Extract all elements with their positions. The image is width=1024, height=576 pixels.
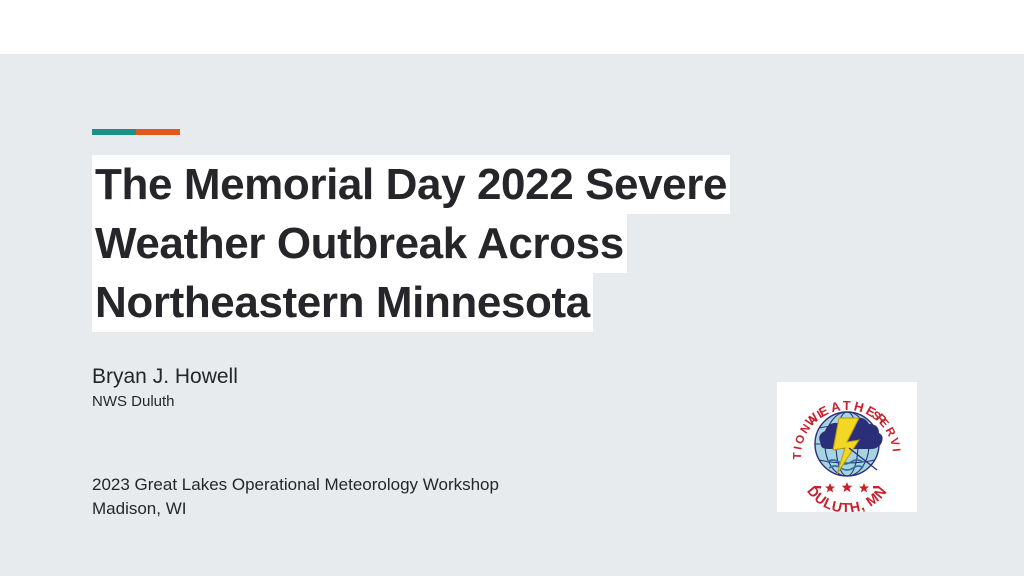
author-affiliation: NWS Duluth	[92, 391, 238, 412]
accent-bar-teal-segment	[92, 129, 136, 135]
presentation-slide: The Memorial Day 2022 Severe Weather Out…	[0, 0, 1024, 576]
seal-stars	[815, 482, 879, 492]
event-location: Madison, WI	[92, 497, 499, 521]
nws-duluth-seal-icon: WEATHER NATIONAL SERVICE DULUTH, MN	[777, 382, 917, 512]
event-name: 2023 Great Lakes Operational Meteorology…	[92, 473, 499, 497]
title-line-2: Weather Outbreak Across	[92, 214, 627, 273]
accent-bar-orange-segment	[136, 129, 180, 135]
logo-plate: WEATHER NATIONAL SERVICE DULUTH, MN	[777, 382, 917, 512]
title-line-1: The Memorial Day 2022 Severe	[92, 155, 730, 214]
author-name: Bryan J. Howell	[92, 363, 238, 391]
title-line-3: Northeastern Minnesota	[92, 273, 593, 332]
page-title: The Memorial Day 2022 Severe Weather Out…	[92, 155, 892, 332]
accent-bar	[92, 129, 180, 135]
event-block: 2023 Great Lakes Operational Meteorology…	[92, 473, 499, 521]
author-block: Bryan J. Howell NWS Duluth	[92, 363, 238, 412]
